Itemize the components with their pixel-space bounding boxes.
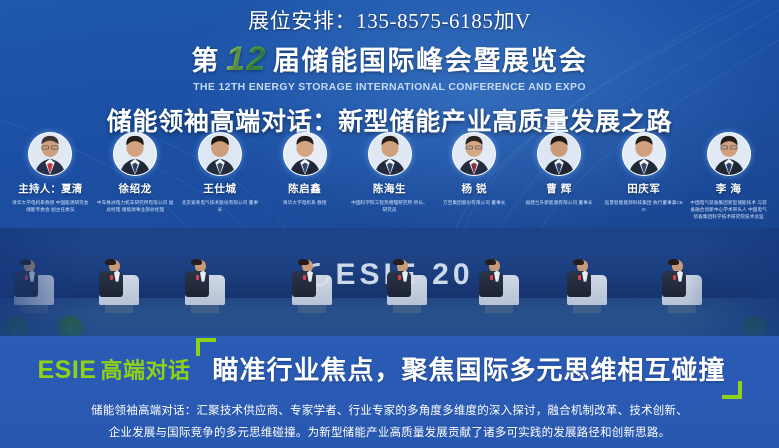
speaker-name: 主持人：夏清 [8,181,93,196]
speaker-name: 曹 辉 [517,181,602,196]
speaker-org: 远景智能能源科技集团 执行董事兼CEO [601,199,686,213]
speaker-card: 李 海 中国电气装备集团新型储能技术 与装备融合创新中心学术带头人 中国电气装备… [686,132,771,220]
avatar [283,132,327,176]
contact-text: 展位安排：135-8575-6185加V [248,5,531,35]
speaker-org: 清华大学电机系教授 中国能源研究会储能专委会 副主任委员 [8,199,93,213]
speaker-card: 杨 锐 万空集团股份有限公司 董事长 [432,132,517,220]
speaker-org: 万空集团股份有限公司 董事长 [432,199,517,206]
title-prefix: 第 [191,47,220,75]
headline-row: ESIE 高端对话 瞄准行业焦点，聚焦国际多元思维相互碰撞 [30,350,749,387]
avatar [28,132,72,176]
headline-text: 瞄准行业焦点，聚焦国际多元思维相互碰撞 [212,355,725,385]
speaker-card: 曹 辉 福建兰升新能源有限公司 董事长 [517,132,602,220]
speaker-card: 主持人：夏清 清华大学电机系教授 中国能源研究会储能专委会 副主任委员 [8,132,93,220]
description-line-1: 储能领袖高端对话：汇聚技术供应商、专家学者、行业专家的多角度多维度的深入探讨，融… [30,400,749,422]
speaker-org: 中国电气装备集团新型储能技术 与装备融合创新中心学术带头人 中国电气装备集团科学… [686,199,771,220]
event-title: 第 12 届储能国际峰会暨展览会 [0,42,779,78]
title-rest: 届储能国际峰会暨展览会 [273,47,588,75]
event-title-english: THE 12TH ENERGY STORAGE INTERNATIONAL CO… [0,81,779,93]
speaker-name: 徐绍龙 [93,181,178,196]
avatar [707,132,751,176]
speaker-org: 中国科学院工程热物理研究所 所长、研究员 [347,199,432,213]
stage-vignette [0,228,779,344]
esie-tag-cn: 高端对话 [100,353,190,385]
speaker-name: 陈启鑫 [262,181,347,196]
avatar [537,132,581,176]
contact-bar: 展位安排：135-8575-6185加V [0,0,779,40]
title-edition-number: 12 [223,42,270,78]
description-line-2: 企业发展与国际竞争的多元思维碰撞。为新型储能产业高质量发展贡献了诸多可实践的发展… [30,422,749,444]
speaker-card: 陈启鑫 清华大学电机系 教授 [262,132,347,220]
speaker-name: 杨 锐 [432,181,517,196]
speaker-card: 王仕城 北京索英电气技术股份有限公司 董事长 [178,132,263,220]
bracket-bottom-right-icon [722,381,742,399]
stage-photo: ESIE 20 [0,228,779,344]
avatar [622,132,666,176]
speaker-name: 李 海 [686,181,771,196]
speaker-name: 陈海生 [347,181,432,196]
bracket-top-left-icon [196,338,216,356]
avatar [113,132,157,176]
speaker-name: 田庆军 [601,181,686,196]
avatar [368,132,412,176]
description-block: 储能领袖高端对话：汇聚技术供应商、专家学者、行业专家的多角度多维度的深入探讨，融… [30,400,749,445]
avatar [198,132,242,176]
bottom-banner: ESIE 高端对话 瞄准行业焦点，聚焦国际多元思维相互碰撞 储能领袖高端对话：汇… [0,336,779,448]
speaker-org: 中车株洲电力机车研究所有限公司 副总经理 储能源事业部总经理 [93,199,178,213]
esie-dialogue-tag: ESIE 高端对话 [37,353,190,385]
speaker-card: 徐绍龙 中车株洲电力机车研究所有限公司 副总经理 储能源事业部总经理 [93,132,178,220]
speaker-card: 田庆军 远景智能能源科技集团 执行董事兼CEO [601,132,686,220]
conference-poster: 展位安排：135-8575-6185加V 第 12 届储能国际峰会暨展览会 TH… [0,0,779,448]
speaker-list: 主持人：夏清 清华大学电机系教授 中国能源研究会储能专委会 副主任委员 徐绍龙 … [0,132,779,220]
speaker-name: 王仕城 [178,181,263,196]
speaker-org: 北京索英电气技术股份有限公司 董事长 [178,199,263,213]
avatar [452,132,496,176]
speaker-org: 清华大学电机系 教授 [262,199,347,206]
esie-tag-en: ESIE [37,356,96,385]
title-block: 第 12 届储能国际峰会暨展览会 THE 12TH ENERGY STORAGE… [0,42,779,138]
speaker-org: 福建兰升新能源有限公司 董事长 [517,199,602,206]
headline-bracket-wrap: 瞄准行业焦点，聚焦国际多元思维相互碰撞 [196,350,741,387]
speaker-card: 陈海生 中国科学院工程热物理研究所 所长、研究员 [347,132,432,220]
